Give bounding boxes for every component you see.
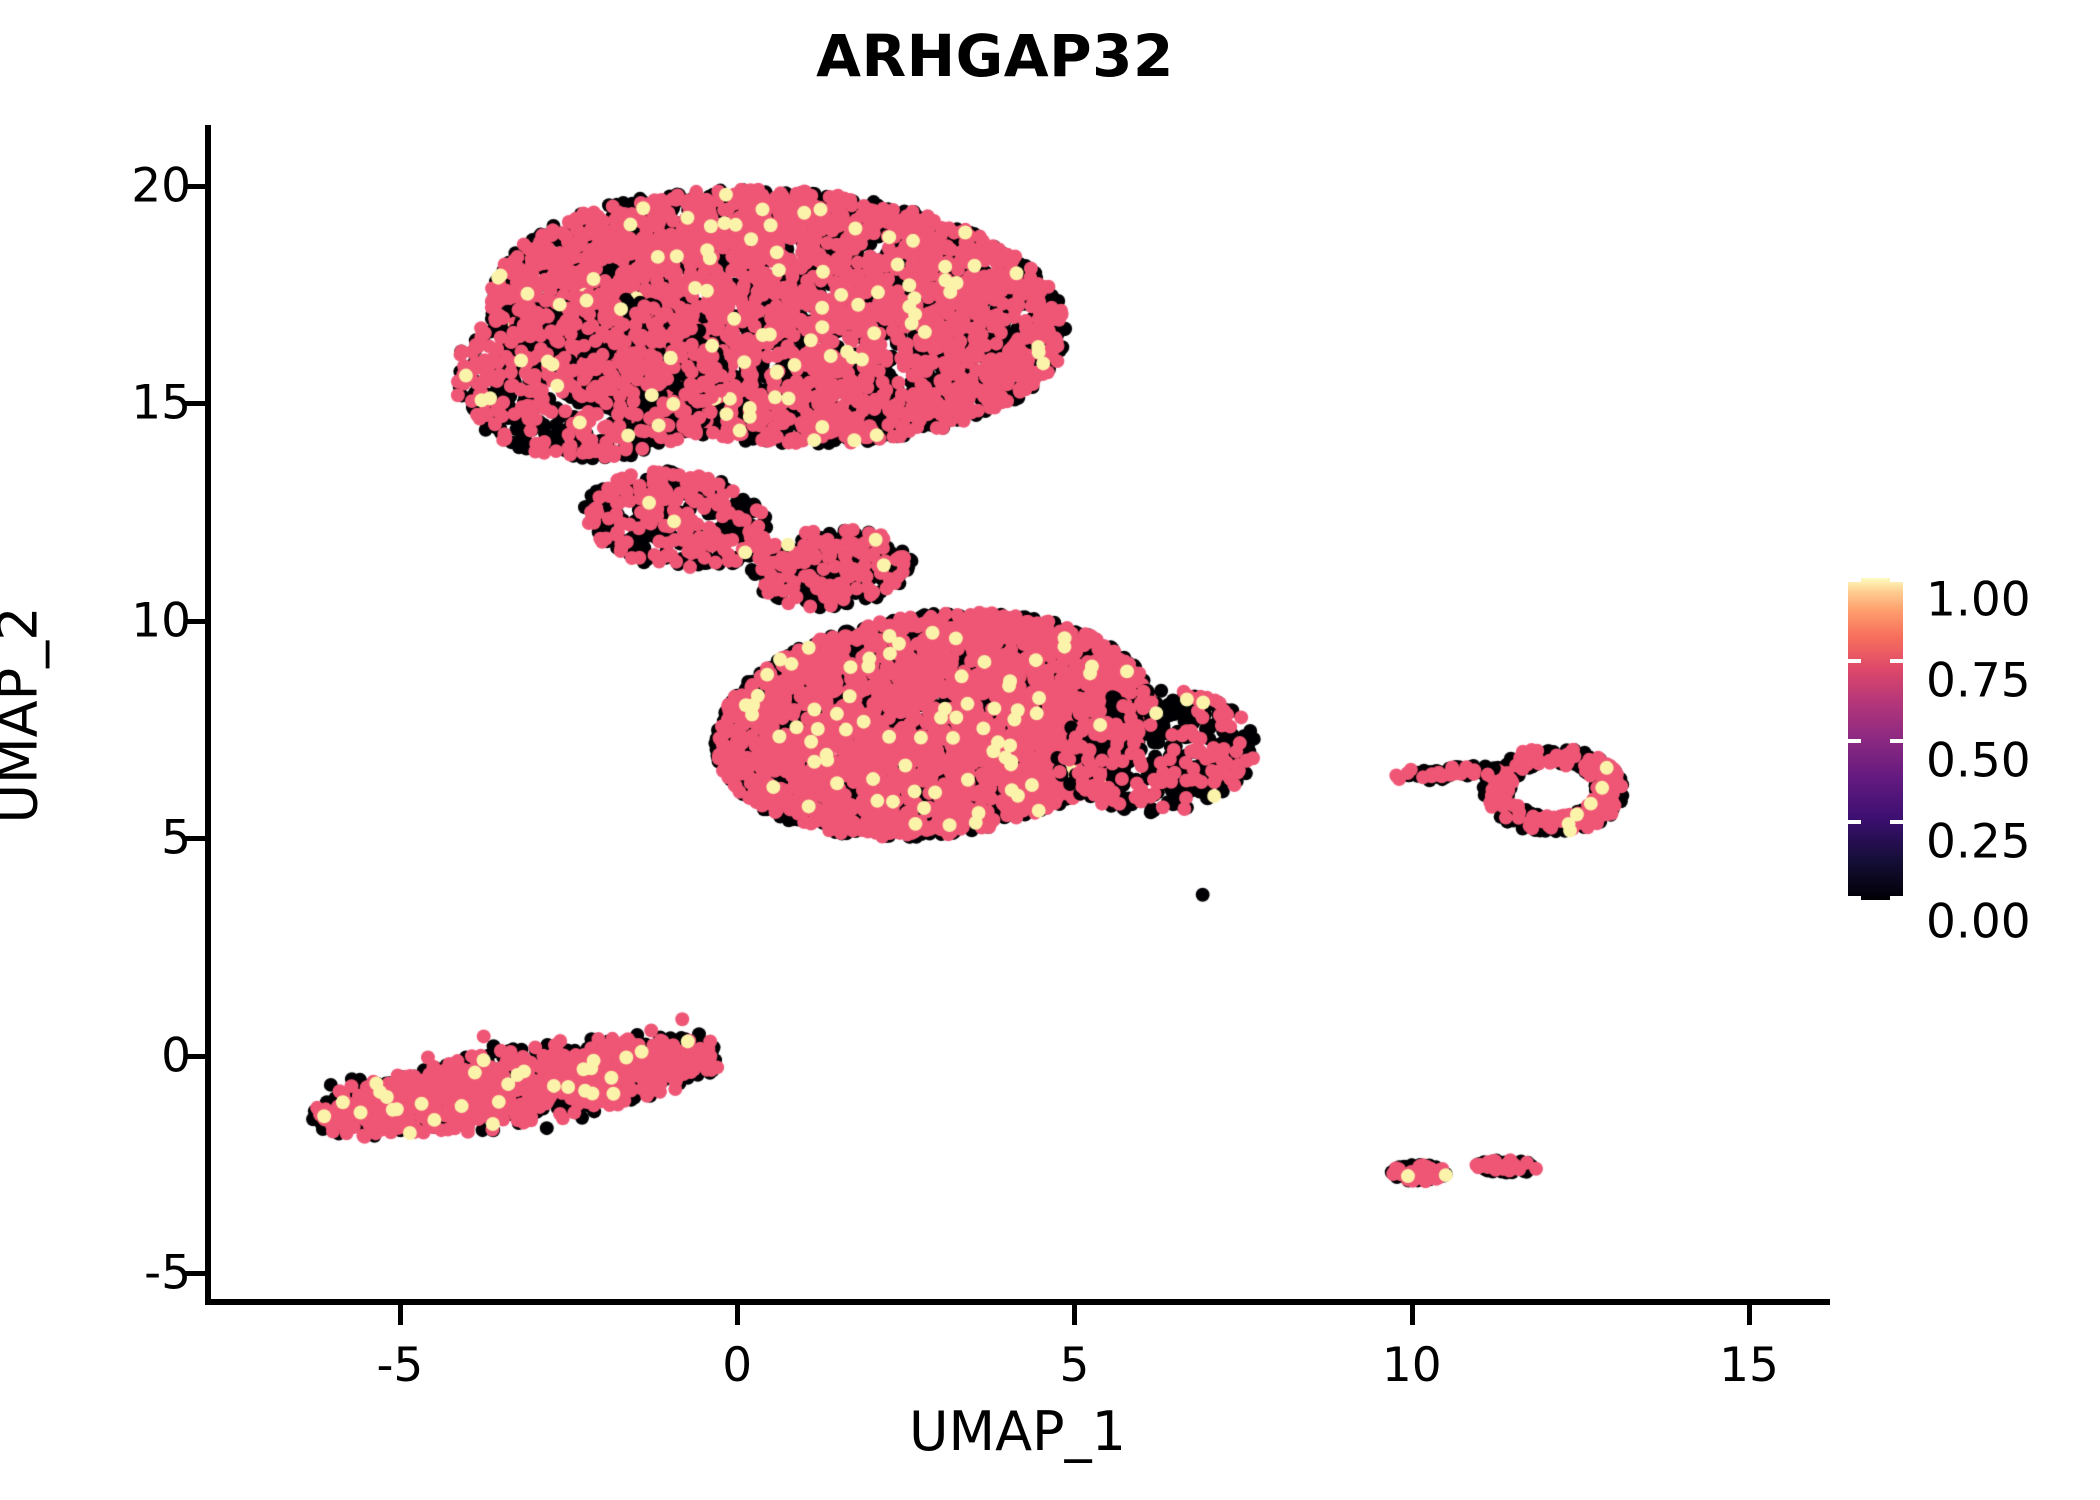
colorbar-tick-mark [1848, 659, 1903, 663]
x-tick-label: 15 [1719, 1342, 1779, 1389]
y-tick-label: -5 [144, 1249, 191, 1296]
x-tick-label: 10 [1382, 1342, 1442, 1389]
x-axis-label: UMAP_1 [205, 1400, 1830, 1463]
x-tick-mark [735, 1305, 740, 1325]
x-tick-label: 5 [1060, 1342, 1090, 1389]
y-axis-label: UMAP_2 [0, 607, 50, 824]
scatter-plot-canvas [211, 125, 1830, 1299]
page-title: ARHGAP32 [160, 22, 1830, 90]
colorbar-tick-label: 1.00 [1926, 577, 2031, 624]
y-tick-label: 0 [161, 1032, 191, 1079]
x-axis-spine [205, 1299, 1830, 1305]
figure-canvas: ARHGAP32 -505101520 -5051015 UMAP_1 UMAP… [0, 0, 2100, 1500]
x-tick-mark [1072, 1305, 1077, 1325]
x-tick-mark [1410, 1305, 1415, 1325]
plot-axes: -505101520 -5051015 [205, 125, 1830, 1305]
colorbar-tick-label: 0.50 [1926, 738, 2031, 785]
x-tick-mark [1747, 1305, 1752, 1325]
colorbar-tick-mark [1848, 820, 1903, 824]
colorbar: 1.000.750.500.250.00 [1848, 578, 2078, 908]
colorbar-tick-mark [1848, 739, 1903, 743]
colorbar-tick-label: 0.25 [1926, 818, 2031, 865]
colorbar-tick-label: 0.75 [1926, 657, 2031, 704]
x-tick-mark [398, 1305, 403, 1325]
y-tick-label: 10 [131, 597, 191, 644]
x-tick-label: -5 [376, 1342, 423, 1389]
y-tick-label: 5 [161, 815, 191, 862]
y-tick-label: 15 [131, 380, 191, 427]
colorbar-tick-label: 0.00 [1926, 899, 2031, 946]
y-tick-label: 20 [131, 162, 191, 209]
colorbar-tick-mark [1848, 896, 1903, 900]
x-tick-label: 0 [722, 1342, 752, 1389]
colorbar-tick-mark [1848, 578, 1903, 582]
